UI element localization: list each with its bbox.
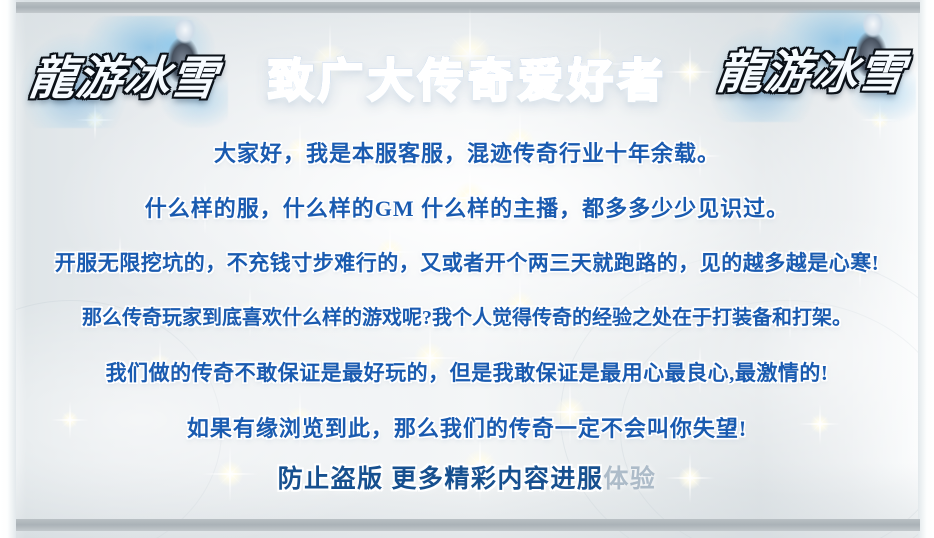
game-logo-right-text: 龍游冰雪: [708, 36, 916, 102]
announcement-line-5: 我们做的传奇不敢保证是最好玩的，但是我敢保证是最用心最良心,最激情的!: [0, 346, 934, 401]
announcement-banner: 龍游冰雪 致广大传奇爱好者 龍游冰雪 大家好，我是本服客服，混迹传奇行业十年余载…: [0, 0, 934, 538]
game-logo-right: 龍游冰雪: [712, 16, 912, 116]
game-logo-left: 龍游冰雪: [24, 22, 224, 122]
announcement-line-3: 开服无限挖坑的，不充钱寸步难行的，又或者开个两三天就跑路的，见的越多越是心寒!: [0, 236, 934, 291]
announcement-line-4: 那么传奇玩家到底喜欢什么样的游戏呢?我个人觉得传奇的经验之处在于打装备和打架。: [0, 291, 934, 346]
game-logo-left-text: 龍游冰雪: [20, 42, 228, 108]
anti-piracy-label: 防止盗版: [278, 466, 392, 493]
banner-header: 龍游冰雪 致广大传奇爱好者 龍游冰雪: [0, 14, 934, 126]
bottom-chrome-bar: [16, 519, 920, 531]
announcement-line-2: 什么样的服，什么样的GM 什么样的主播，都多多少少见识过。: [0, 181, 934, 236]
announcement-line-6: 如果有缘浏览到此，那么我们的传奇一定不会叫你失望!: [0, 401, 934, 456]
anti-piracy-note: 防止盗版 更多精彩内容进服体验: [0, 455, 934, 505]
anti-piracy-body: 更多精彩内容进服: [391, 466, 603, 493]
announcement-line-1: 大家好，我是本服客服，混迹传奇行业十年余载。: [0, 126, 934, 181]
anti-piracy-tail: 体验: [603, 466, 656, 493]
announcement-body: 大家好，我是本服客服，混迹传奇行业十年余载。 什么样的服，什么样的GM 什么样的…: [0, 126, 934, 456]
page-title: 致广大传奇爱好者: [248, 44, 688, 109]
